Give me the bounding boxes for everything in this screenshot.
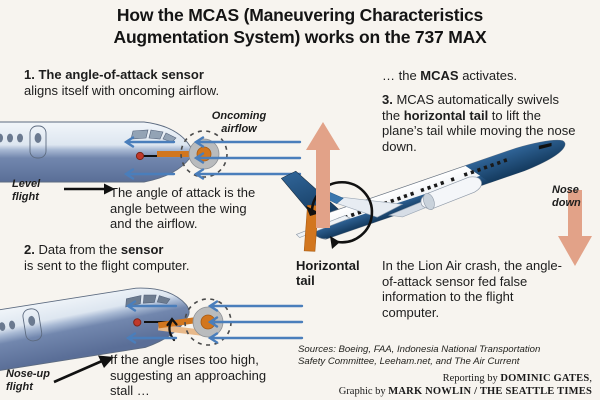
reporting-credit-post: , bbox=[589, 373, 592, 384]
step-1-bold: The angle-of-attack sensor bbox=[38, 67, 203, 82]
door-window bbox=[35, 133, 42, 143]
stall-explanation: If the angle rises too high, suggesting … bbox=[110, 352, 280, 399]
mcas-activates-post: activates. bbox=[459, 68, 518, 83]
level-flight-label: Level flight bbox=[12, 178, 62, 204]
reporting-credit-pre: Reporting by bbox=[443, 373, 501, 384]
step-3-number: 3. bbox=[382, 92, 393, 107]
airflow-arrows-behind-sensor-nose-up bbox=[120, 300, 180, 346]
up-arrow-shape bbox=[306, 122, 340, 228]
oncoming-airflow-line-1: Oncoming bbox=[196, 110, 282, 123]
step-1-rest: aligns itself with oncoming airflow. bbox=[24, 83, 219, 98]
nose-up-flight-line-2: flight bbox=[6, 381, 62, 394]
level-flight-arrow bbox=[62, 182, 116, 196]
mcas-activates-bold: MCAS bbox=[420, 68, 458, 83]
tail-lift-up-arrow bbox=[303, 120, 343, 230]
mcas-activates-pre: … the bbox=[382, 68, 420, 83]
sources-note: Sources: Boeing, FAA, Indonesia National… bbox=[298, 344, 588, 368]
oncoming-airflow-arrows-nose-up bbox=[198, 300, 310, 346]
nose-down-label: Nose down bbox=[552, 184, 600, 210]
step-2-pre: Data from the bbox=[38, 242, 120, 257]
airflow-arrows-behind-sensor-level bbox=[118, 136, 178, 182]
nose-up-flight-label: Nose-up flight bbox=[6, 368, 62, 394]
horizontal-tail-label: Horizontal tail bbox=[296, 258, 380, 288]
step-2-bold: sensor bbox=[121, 242, 164, 257]
step-1-number: 1. bbox=[24, 67, 35, 82]
reporting-credit: Reporting by DOMINIC GATES, bbox=[288, 372, 592, 385]
step-1-text: 1. The angle-of-attack sensor aligns its… bbox=[24, 67, 289, 98]
mcas-infographic: How the MCAS (Maneuvering Characteristic… bbox=[0, 0, 600, 400]
horizontal-tail-line-2: tail bbox=[296, 273, 380, 288]
credit-block: Reporting by DOMINIC GATES, Graphic by M… bbox=[288, 372, 592, 398]
step-2-rest: is sent to the flight computer. bbox=[24, 258, 189, 273]
angle-of-attack-explanation: The angle of attack is the angle between… bbox=[110, 185, 270, 232]
step-2-text: 2. Data from the sensor is sent to the f… bbox=[24, 242, 289, 273]
reporting-credit-name: DOMINIC GATES bbox=[500, 373, 589, 384]
oncoming-airflow-line-2: airflow bbox=[196, 123, 282, 136]
graphic-credit: Graphic by MARK NOWLIN / THE SEATTLE TIM… bbox=[288, 385, 592, 398]
title-line-1: How the MCAS (Maneuvering Characteristic… bbox=[0, 4, 600, 26]
nose-up-flight-line-1: Nose-up bbox=[6, 368, 62, 381]
lion-air-explanation: In the Lion Air crash, the angle-of-atta… bbox=[382, 258, 562, 320]
nose-down-line-1: Nose bbox=[552, 184, 600, 197]
graphic-credit-name: MARK NOWLIN / THE SEATTLE TIMES bbox=[388, 386, 592, 397]
nose-down-line-2: down bbox=[552, 197, 600, 210]
sources-line-2: Safety Committee, Leeham.net, and The Ai… bbox=[298, 356, 588, 368]
title-line-2: Augmentation System) works on the 737 MA… bbox=[0, 26, 600, 48]
graphic-credit-pre: Graphic by bbox=[339, 386, 389, 397]
step-3-bold: horizontal tail bbox=[404, 108, 489, 123]
oncoming-airflow-label: Oncoming airflow bbox=[196, 110, 282, 136]
sources-line-1: Sources: Boeing, FAA, Indonesia National… bbox=[298, 344, 588, 356]
level-flight-line-1: Level bbox=[12, 178, 62, 191]
horizontal-tail-line-1: Horizontal bbox=[296, 258, 380, 273]
step-2-number: 2. bbox=[24, 242, 35, 257]
mcas-activates-text: … the MCAS activates. bbox=[382, 68, 592, 84]
page-title: How the MCAS (Maneuvering Characteristic… bbox=[0, 4, 600, 48]
level-flight-line-2: flight bbox=[12, 191, 62, 204]
